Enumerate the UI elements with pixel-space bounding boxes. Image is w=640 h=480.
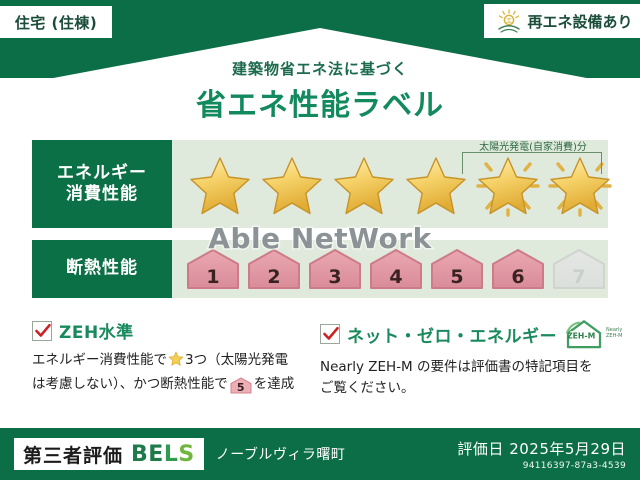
note-zeh-text3: は考慮しない）、かつ断熱性能で: [32, 376, 228, 392]
zeh-m-sublabel: Nearly ZEH-M: [606, 328, 622, 340]
check-icon: [32, 321, 52, 341]
note-zeh-standard: ZEH水準 エネルギー消費性能で3つ（太陽光発電は考慮しない）、かつ断熱性能で5…: [32, 318, 320, 414]
renewable-equipment-label: 再エネ設備あり: [527, 11, 632, 32]
insulation-grade-value: 4: [389, 266, 402, 288]
dwelling-type-tag: 住宅 (住棟): [0, 6, 112, 38]
insulation-performance-row: 断熱性能 1234567: [32, 240, 608, 298]
zeh-m-house-icon: ZEH-M: [564, 318, 604, 350]
dwelling-type-label: 住宅 (住棟): [15, 12, 97, 33]
evaluation-date-value: 2025年5月29日: [509, 440, 626, 458]
notes-section: ZEH水準 エネルギー消費性能で3つ（太陽光発電は考慮しない）、かつ断熱性能で5…: [32, 318, 608, 414]
evaluation-date-label: 評価日: [457, 440, 504, 458]
svg-text:ZEH-M: ZEH-M: [567, 332, 595, 341]
evaluation-info: 評価日 2025年5月29日 94116397-87a3-4539: [457, 438, 626, 471]
insulation-grade-badge: 5: [430, 248, 484, 290]
solar-bracket: [462, 152, 602, 174]
insulation-grade-value: 6: [511, 266, 524, 288]
insulation-key-label: 断熱性能: [66, 258, 138, 279]
insulation-grade-badge: 3: [308, 248, 362, 290]
inline-star-icon: [168, 355, 184, 371]
note-zeh-body: エネルギー消費性能で3つ（太陽光発電は考慮しない）、かつ断熱性能で5を達成: [32, 350, 308, 395]
note-zeh-text2: 3つ（太陽光発電: [185, 352, 288, 368]
bels-logo-part3: S: [178, 442, 194, 467]
check-icon: [320, 324, 340, 344]
insulation-grade-badge: 7: [552, 248, 606, 290]
svg-text:エ: エ: [506, 18, 512, 25]
zeh-m-logo: ZEH-M Nearly ZEH-M: [564, 318, 622, 350]
energy-key-line1: エネルギー: [57, 163, 147, 184]
note-zeh-text1: エネルギー消費性能で: [32, 352, 167, 368]
energy-performance-label: 住宅 (住棟) エ 再エネ設備あり 建築物省エネ法に基づく 省エネ性能ラベル: [0, 0, 640, 480]
energy-key-line2: 消費性能: [66, 184, 138, 205]
note-net-zero-energy: ネット・ゼロ・エネルギー ZEH-M Nearly ZEH-M Nearly Z…: [320, 318, 608, 414]
star-icon: [186, 152, 254, 216]
building-name: ノーブルヴィラ曙町: [216, 444, 346, 464]
label-subtitle: 建築物省エネ法に基づく: [0, 58, 640, 79]
zeh-m-sub-line2: ZEH-M: [606, 333, 622, 339]
insulation-grade-badge: 6: [491, 248, 545, 290]
solar-portion-caption: 太陽光発電(自家消費)分: [458, 138, 608, 153]
star-icon: [330, 152, 398, 216]
insulation-grade-value: 2: [267, 266, 280, 288]
inline-grade-value: 5: [237, 381, 245, 394]
note-nze-body: Nearly ZEH-M の要件は評価書の特記項目をご覧ください。: [320, 357, 596, 399]
note-zeh-title: ZEH水準: [59, 318, 134, 343]
note-zeh-header: ZEH水準: [32, 318, 308, 343]
star-icon: [258, 152, 326, 216]
insulation-grade-value: 3: [328, 266, 341, 288]
bels-logo-part1: BE: [131, 442, 164, 467]
bels-logo-part2: L: [164, 442, 179, 467]
note-nze-header: ネット・ゼロ・エネルギー ZEH-M Nearly ZEH-M: [320, 318, 596, 350]
bels-badge: 第三者評価 BELS: [14, 438, 204, 470]
energy-performance-key: エネルギー 消費性能: [32, 140, 172, 228]
insulation-performance-key: 断熱性能: [32, 240, 172, 298]
inline-grade-badge: 5: [230, 377, 252, 393]
evaluation-id: 94116397-87a3-4539: [457, 461, 626, 471]
insulation-grade-value: 7: [572, 266, 585, 288]
bels-logo: BELS: [131, 442, 195, 467]
footer-bar: 第三者評価 BELS ノーブルヴィラ曙町 評価日 2025年5月29日 9411…: [0, 428, 640, 480]
insulation-grade-badge: 1: [186, 248, 240, 290]
insulation-grade-value: 5: [450, 266, 463, 288]
note-zeh-text4: を達成: [254, 376, 295, 392]
star-icon: [402, 152, 470, 216]
insulation-grade-badge: 4: [369, 248, 423, 290]
note-nze-title: ネット・ゼロ・エネルギー: [347, 322, 557, 347]
evaluation-date: 評価日 2025年5月29日: [457, 438, 626, 459]
insulation-grade-scale: 1234567: [172, 240, 609, 298]
label-title: 省エネ性能ラベル: [0, 80, 640, 124]
insulation-grade-badge: 2: [247, 248, 301, 290]
renewable-equipment-tag: エ 再エネ設備あり: [484, 4, 640, 38]
sun-icon: エ: [495, 8, 523, 34]
bels-third-party-label: 第三者評価: [23, 441, 123, 468]
insulation-grade-value: 1: [206, 266, 219, 288]
